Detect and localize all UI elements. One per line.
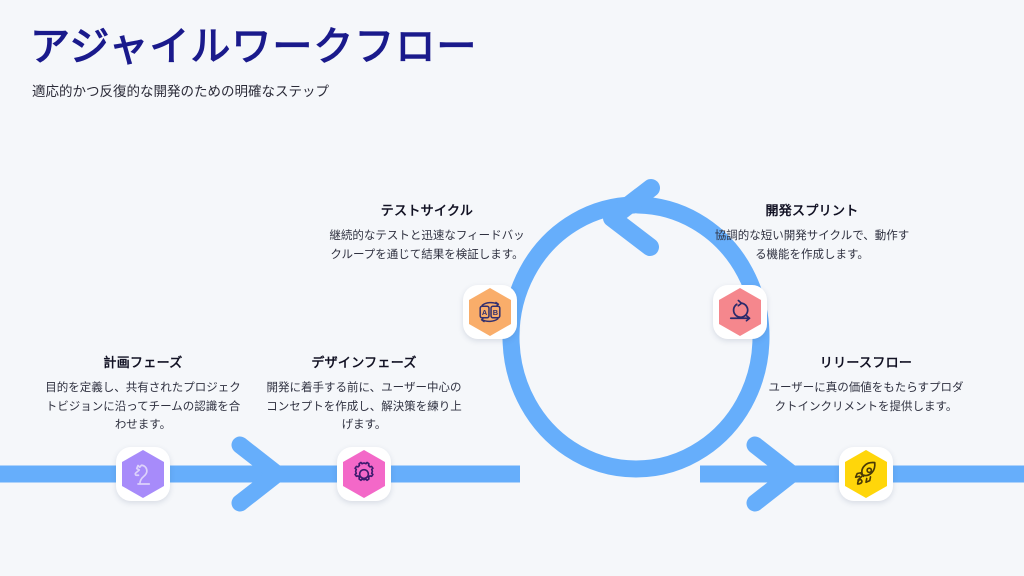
- step-text-release: リリースフロー ユーザーに真の価値をもたらすプロダクトインクリメントを提供します…: [768, 355, 964, 416]
- step-title: 開発スプリント: [714, 203, 910, 220]
- gear-icon: [349, 459, 379, 489]
- step-text-testing: テストサイクル 継続的なテストと迅速なフィードバックループを通じて結果を検証しま…: [329, 203, 525, 264]
- step-title: テストサイクル: [329, 203, 525, 220]
- infographic-canvas: アジャイルワークフロー 適応的かつ反復的な開発のための明確なステップ: [0, 0, 1024, 576]
- node-planning[interactable]: [115, 446, 171, 502]
- step-title: デザインフェーズ: [266, 355, 462, 372]
- node-testing[interactable]: A B: [462, 284, 518, 340]
- step-description: 目的を定義し、共有されたプロジェクトビジョンに沿ってチームの認識を合わせます。: [45, 379, 241, 435]
- cycle-arrowhead: [612, 188, 651, 247]
- step-text-sprint: 開発スプリント 協調的な短い開発サイクルで、動作する機能を作成します。: [714, 203, 910, 264]
- svg-text:A: A: [482, 308, 488, 317]
- step-title: 計画フェーズ: [45, 355, 241, 372]
- chess-knight-icon: [128, 459, 158, 489]
- step-description: 継続的なテストと迅速なフィードバックループを通じて結果を検証します。: [329, 227, 525, 264]
- sprint-loop-icon: [725, 297, 755, 327]
- step-title: リリースフロー: [768, 355, 964, 372]
- svg-text:B: B: [493, 308, 498, 317]
- rocket-icon: [851, 459, 881, 489]
- step-text-design: デザインフェーズ 開発に着手する前に、ユーザー中心のコンセプトを作成し、解決策を…: [266, 355, 462, 435]
- node-sprint[interactable]: [712, 284, 768, 340]
- node-release[interactable]: [838, 446, 894, 502]
- ab-test-icon: A B: [475, 297, 505, 327]
- step-description: 開発に着手する前に、ユーザー中心のコンセプトを作成し、解決策を練り上げます。: [266, 379, 462, 435]
- step-description: 協調的な短い開発サイクルで、動作する機能を作成します。: [714, 227, 910, 264]
- step-text-planning: 計画フェーズ 目的を定義し、共有されたプロジェクトビジョンに沿ってチームの認識を…: [45, 355, 241, 435]
- node-design[interactable]: [336, 446, 392, 502]
- step-description: ユーザーに真の価値をもたらすプロダクトインクリメントを提供します。: [768, 379, 964, 416]
